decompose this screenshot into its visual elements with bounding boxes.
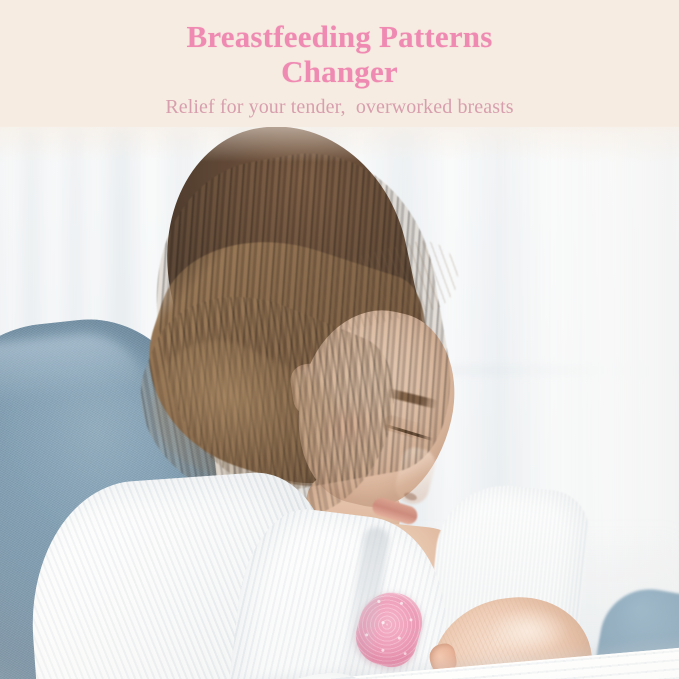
header-banner: Breastfeeding Patterns Changer Relief fo… — [0, 0, 679, 127]
baby-head-highlight — [488, 608, 568, 654]
page-title: Breastfeeding Patterns Changer — [186, 20, 492, 89]
page-title-line-1: Breastfeeding Patterns — [186, 19, 492, 54]
product-image-card: Breastfeeding Patterns Changer Relief fo… — [0, 0, 679, 679]
lifestyle-photo — [0, 126, 679, 679]
page-title-line-2: Changer — [281, 54, 398, 89]
page-subtitle: Relief for your tender, overworked breas… — [165, 96, 513, 119]
